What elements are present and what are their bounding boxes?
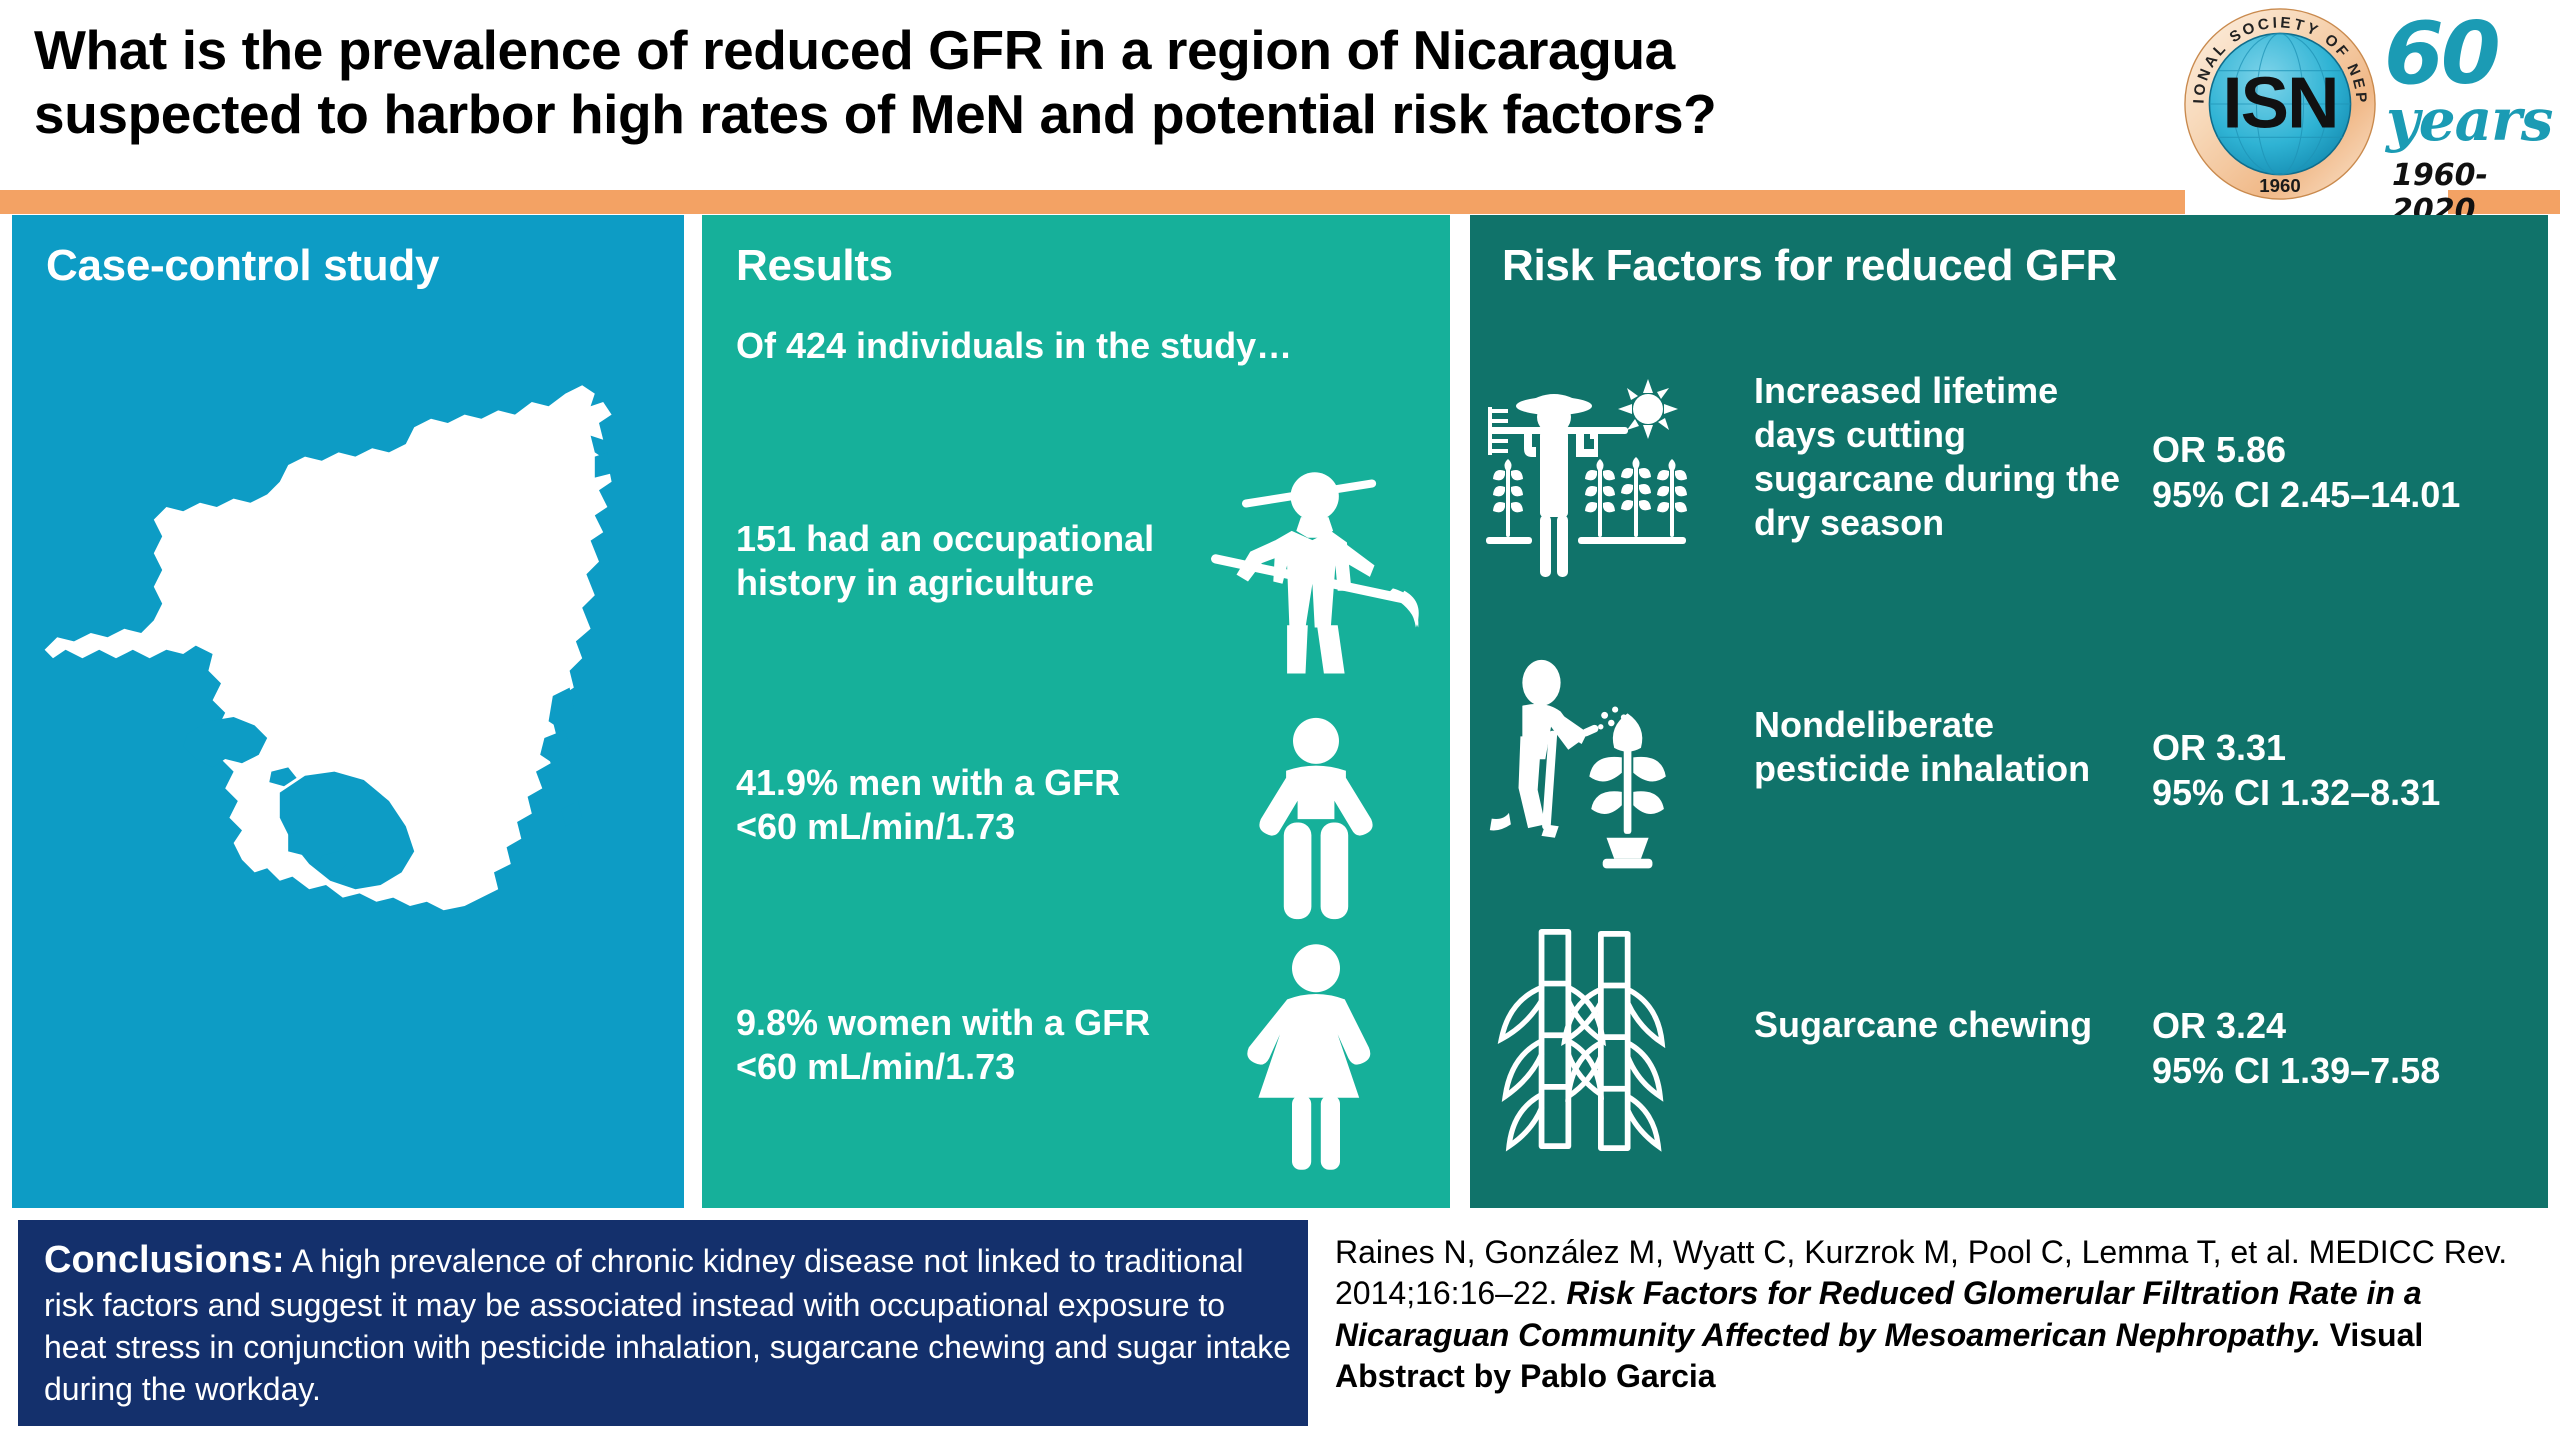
- results-row-text: 41.9% men with a GFR <60 mL/min/1.73: [736, 761, 1156, 849]
- risk-factor-or: OR 3.24: [2152, 1003, 2544, 1048]
- isn-anniversary-mark: 60 years 1960-2020: [2378, 8, 2560, 208]
- anniversary-word: years: [2386, 86, 2552, 154]
- results-row-text: 151 had an occupational history in agric…: [736, 517, 1156, 605]
- risk-factor-stat: OR 3.31 95% CI 1.32–8.31: [2152, 725, 2544, 816]
- svg-text:ISN: ISN: [2222, 63, 2337, 144]
- isn-seal-icon: INTERNATIONAL SOCIETY OF NEPHROLOGY 1960…: [2182, 6, 2378, 202]
- panel-results: Results Of 424 individuals in the study……: [702, 215, 1450, 1208]
- results-row: 41.9% men with a GFR <60 mL/min/1.73: [702, 725, 1450, 925]
- sugarcane-stalks-icon: [1488, 915, 1708, 1165]
- risk-factor-label: Sugarcane chewing: [1754, 1003, 2134, 1047]
- title-line-1: What is the prevalence of reduced GFR in…: [34, 18, 2154, 82]
- panel-case-control-study: Case-control study: [12, 215, 684, 1208]
- isn-logo: INTERNATIONAL SOCIETY OF NEPHROLOGY 1960…: [2182, 2, 2560, 214]
- page-title: What is the prevalence of reduced GFR in…: [34, 18, 2154, 147]
- risk-factor-or: OR 3.31: [2152, 725, 2544, 770]
- risk-factor-stat: OR 5.86 95% CI 2.45–14.01: [2152, 427, 2544, 518]
- risk-factor-ci: 95% CI 2.45–14.01: [2152, 472, 2544, 517]
- pesticide-spraying-icon: [1486, 651, 1706, 881]
- risk-factor-label: Nondeliberate pesticide inhalation: [1754, 703, 2134, 791]
- risk-factor-row: Increased lifetime days cutting sugarcan…: [1470, 355, 2548, 605]
- panel-risk-factors: Risk Factors for reduced GFR: [1470, 215, 2548, 1208]
- visual-abstract-canvas: What is the prevalence of reduced GFR in…: [0, 0, 2560, 1440]
- conclusions-box: Conclusions: A high prevalence of chroni…: [18, 1220, 1308, 1426]
- results-row: 9.8% women with a GFR <60 mL/min/1.73: [702, 955, 1450, 1155]
- risk-factor-stat: OR 3.24 95% CI 1.39–7.58: [2152, 1003, 2544, 1094]
- risk-factor-row: Nondeliberate pesticide inhalation OR 3.…: [1470, 645, 2548, 895]
- male-figure-icon: [1226, 711, 1406, 941]
- farmer-sun-crops-icon: [1480, 365, 1710, 595]
- risk-factor-label: Increased lifetime days cutting sugarcan…: [1754, 369, 2134, 545]
- panel-title-case-control: Case-control study: [46, 241, 439, 291]
- results-row: 151 had an occupational history in agric…: [702, 455, 1450, 655]
- female-figure-icon: [1226, 937, 1406, 1177]
- risk-factor-row: Sugarcane chewing OR 3.24 95% CI 1.39–7.…: [1470, 915, 2548, 1165]
- conclusions-text: Conclusions: A high prevalence of chroni…: [44, 1236, 1292, 1410]
- panel-title-risk-factors: Risk Factors for reduced GFR: [1502, 241, 2117, 291]
- panel-title-results: Results: [736, 241, 893, 291]
- risk-factor-ci: 95% CI 1.32–8.31: [2152, 770, 2544, 815]
- farmer-with-scythe-icon: [1202, 455, 1432, 685]
- svg-text:1960: 1960: [2259, 175, 2300, 196]
- nicaragua-map-icon: [32, 355, 662, 995]
- conclusions-heading: Conclusions:: [44, 1239, 285, 1281]
- title-line-2: suspected to harbor high rates of MeN an…: [34, 82, 2154, 146]
- header-divider-rule: [0, 190, 2185, 214]
- results-intro-text: Of 424 individuals in the study…: [736, 325, 1292, 367]
- citation: Raines N, González M, Wyatt C, Kurzrok M…: [1335, 1232, 2550, 1397]
- risk-factor-ci: 95% CI 1.39–7.58: [2152, 1048, 2544, 1093]
- risk-factor-or: OR 5.86: [2152, 427, 2544, 472]
- results-row-text: 9.8% women with a GFR <60 mL/min/1.73: [736, 1001, 1156, 1089]
